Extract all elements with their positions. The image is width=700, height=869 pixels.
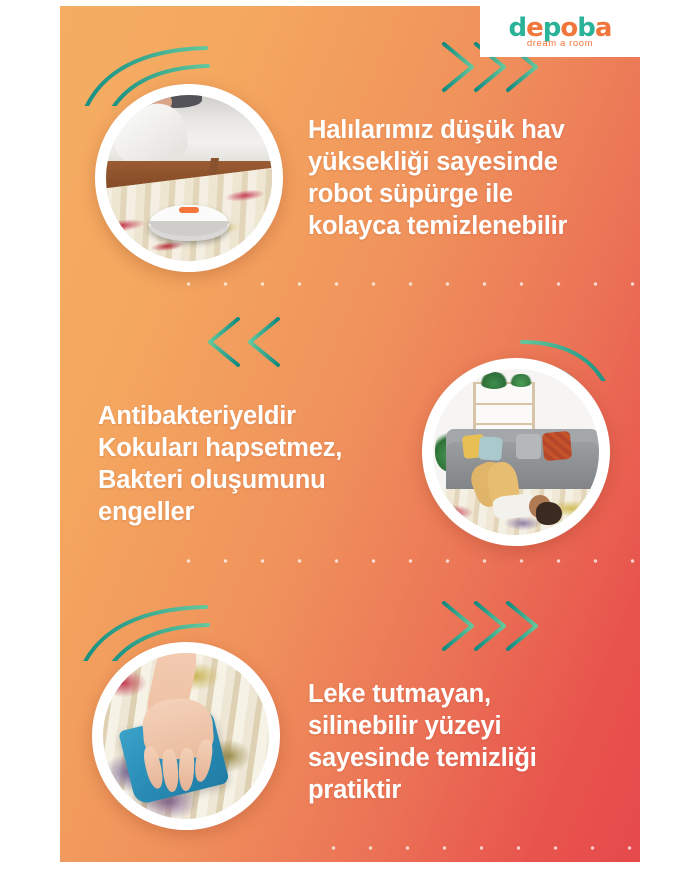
arrow-right-3 <box>60 591 580 661</box>
feature-photo-3 <box>103 653 269 819</box>
feature-2-line-2: Kokuları hapsetmez, <box>98 432 342 464</box>
feature-image-1 <box>95 84 283 272</box>
gradient-canvas: depoba dream a room <box>60 6 640 862</box>
logo-tagline: dream a room <box>527 38 593 49</box>
feature-1-line-3: robot süpürge ile <box>308 178 567 210</box>
feature-3-line-2: silinebilir yüzeyi <box>308 710 537 742</box>
feature-photo-1 <box>106 95 272 261</box>
feature-1-line-4: kolayca temizlenebilir <box>308 210 567 242</box>
logo-letter-a: a <box>595 15 612 41</box>
logo-letter-d: d <box>509 15 527 41</box>
separator-3 <box>315 846 640 850</box>
feature-image-3 <box>92 642 280 830</box>
feature-3-line-3: sayesinde temizliği <box>308 742 537 774</box>
feature-2-line-3: Bakteri oluşumunu <box>98 464 342 496</box>
feature-text-1: Halılarımız düşük hav yüksekliği sayesin… <box>308 114 567 242</box>
feature-text-3: Leke tutmayan, silinebilir yüzeyi sayesi… <box>308 678 537 806</box>
feature-image-2 <box>422 358 610 546</box>
feature-text-2: Antibakteriyeldir Kokuları hapsetmez, Ba… <box>98 400 342 528</box>
feature-1-line-2: yüksekliği sayesinde <box>308 146 567 178</box>
infographic-page: depoba dream a room <box>0 0 700 869</box>
separator-1 <box>170 282 640 286</box>
feature-1-line-1: Halılarımız düşük hav <box>308 114 567 146</box>
feature-photo-2 <box>433 369 599 535</box>
feature-2-line-1: Antibakteriyeldir <box>98 400 342 432</box>
feature-3-line-4: pratiktir <box>308 774 537 806</box>
feature-3-line-1: Leke tutmayan, <box>308 678 537 710</box>
brand-logo[interactable]: depoba dream a room <box>480 6 640 57</box>
feature-2-line-4: engeller <box>98 496 342 528</box>
separator-2 <box>170 559 640 563</box>
